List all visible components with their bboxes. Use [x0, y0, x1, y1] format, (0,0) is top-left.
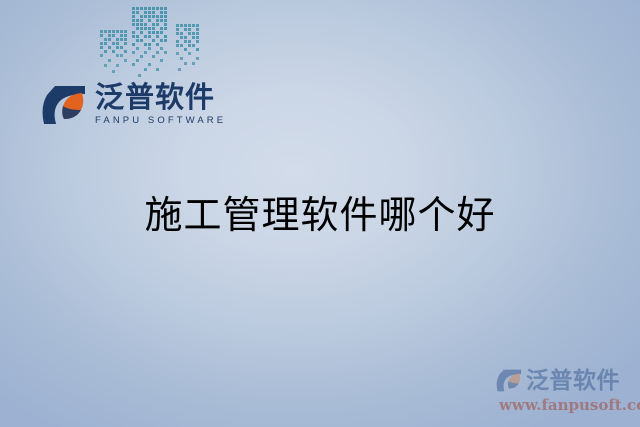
- mosaic-svg: [90, 4, 210, 80]
- watermark-name-cn: 泛普软件: [526, 368, 620, 393]
- brand-name-cn: 泛普软件: [95, 83, 226, 114]
- watermark: 泛普软件 www.fanpusoft.com: [496, 365, 636, 421]
- page-title: 施工管理软件哪个好: [0, 193, 640, 237]
- watermark-brand-row: 泛普软件: [496, 365, 636, 395]
- watermark-url: www.fanpusoft.com: [496, 396, 636, 414]
- fanpu-logo-mark-icon: [42, 85, 86, 125]
- slide-canvas: 泛普软件 FANPU SOFTWARE 施工管理软件哪个好 泛普软件 www.f…: [0, 0, 640, 427]
- brand-text-block: 泛普软件 FANPU SOFTWARE: [95, 83, 226, 127]
- fanpu-logo-mark-icon: [496, 369, 522, 392]
- brand-name-en: FANPU SOFTWARE: [95, 115, 226, 127]
- brand-logo: 泛普软件 FANPU SOFTWARE: [42, 80, 222, 130]
- pixel-mosaic-skyline-graphic: [90, 4, 210, 80]
